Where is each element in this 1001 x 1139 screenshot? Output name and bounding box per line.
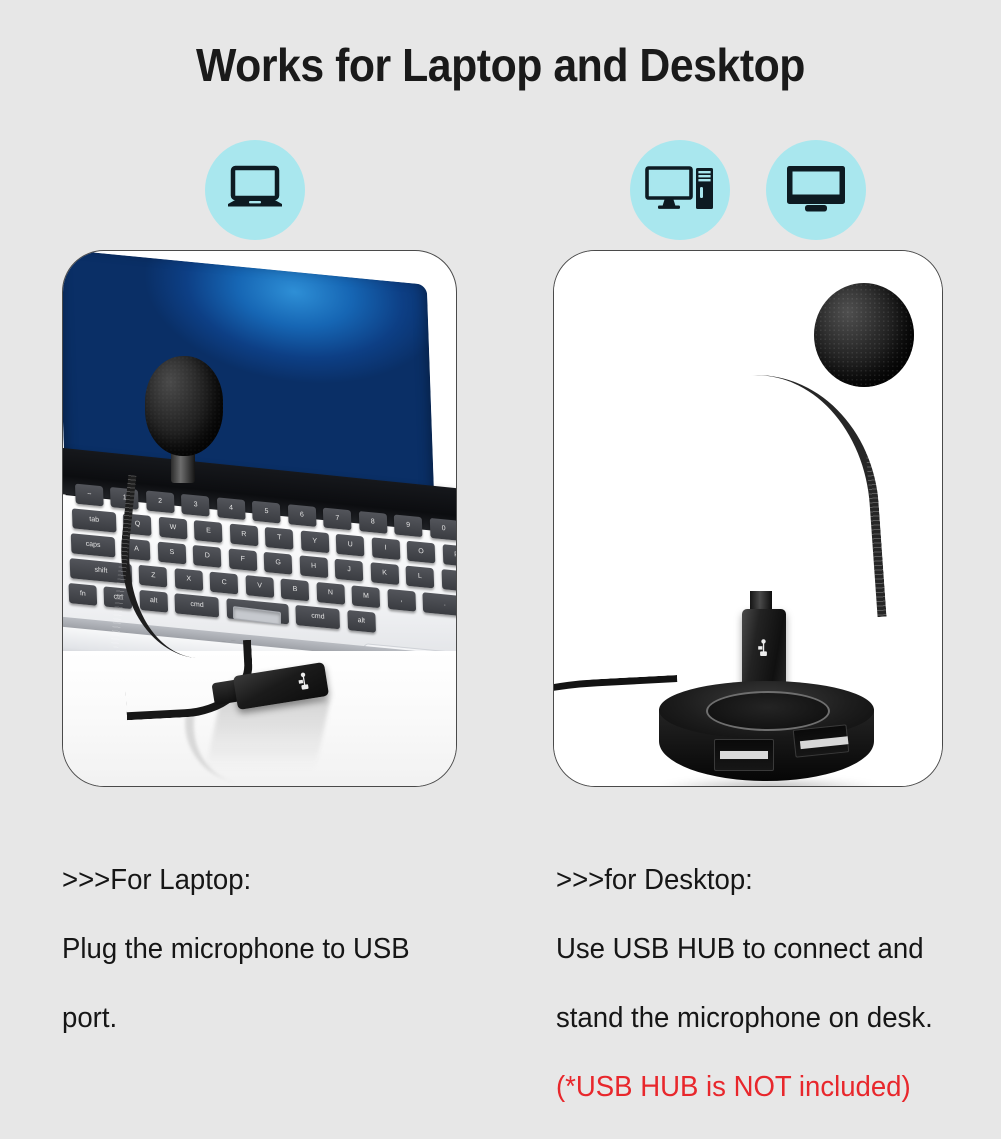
key: caps	[71, 533, 116, 557]
key: R	[230, 524, 259, 547]
key: V	[245, 575, 274, 598]
laptop-badge	[205, 140, 305, 240]
laptop-icon	[224, 164, 286, 217]
laptop-caption: >>>For Laptop: Plug the microphone to US…	[62, 828, 471, 1070]
desktop-tower-icon	[644, 163, 716, 218]
key: alt	[347, 610, 376, 633]
key: 5	[252, 501, 281, 524]
desktop-caption-line2: stand the microphone on desk.	[556, 1001, 974, 1036]
usb-hub-not-included-note: (*USB HUB is NOT included)	[556, 1070, 974, 1105]
laptop-caption-heading: >>>For Laptop:	[62, 863, 471, 898]
page-title: Works for Laptop and Desktop	[35, 38, 966, 92]
key: 7	[323, 508, 352, 531]
laptop-caption-line1: Plug the microphone to USB	[62, 932, 471, 967]
key: .	[422, 592, 457, 616]
microphone-foam-head	[145, 356, 223, 456]
monitor-badge	[766, 140, 866, 240]
key: F	[228, 548, 257, 571]
key: ;	[441, 569, 457, 593]
desktop-caption: >>>for Desktop: Use USB HUB to connect a…	[556, 828, 974, 1139]
key: 9	[394, 514, 423, 537]
usb-hub-port	[714, 739, 774, 771]
key: O	[407, 541, 436, 564]
key: 0	[429, 518, 457, 541]
key: fn	[68, 583, 97, 606]
key: ,	[387, 589, 416, 612]
key: J	[335, 559, 364, 582]
key: L	[406, 566, 435, 589]
usb-hub-socket	[706, 691, 830, 731]
key: T	[265, 527, 294, 550]
badge-group-laptop	[205, 140, 315, 240]
key: ~	[75, 484, 104, 507]
key: 6	[288, 504, 317, 527]
key: G	[264, 552, 293, 575]
desktop-caption-heading: >>>for Desktop:	[556, 863, 974, 898]
key: 8	[358, 511, 387, 534]
laptop-photo-panel: ~ 1 2 3 4 5 6 7 8 9 0 del tab Q W E R T …	[62, 250, 457, 787]
laptop-caption-line2: port.	[62, 1001, 471, 1036]
key: Y	[300, 530, 329, 553]
key: I	[371, 537, 400, 560]
desktop-tower-badge	[630, 140, 730, 240]
usb-logo-icon	[296, 671, 312, 691]
key: N	[316, 582, 345, 605]
key: B	[281, 579, 310, 602]
microphone-foam-head	[814, 283, 914, 387]
usb-hub-port	[793, 724, 850, 757]
desktop-caption-line1: Use USB HUB to connect and	[556, 932, 974, 967]
key: U	[336, 534, 365, 557]
key: H	[299, 555, 328, 578]
microphone-gooseneck	[750, 367, 886, 625]
key: K	[370, 562, 399, 585]
monitor-icon	[783, 162, 849, 219]
key: C	[210, 572, 239, 595]
usb-logo-icon	[757, 639, 770, 657]
badge-group-desktop	[630, 140, 880, 240]
key: tab	[72, 508, 117, 532]
key: cmd	[296, 605, 341, 629]
key: 4	[217, 497, 246, 520]
key: M	[352, 585, 381, 608]
usb-hub	[659, 681, 874, 787]
key: P	[442, 544, 457, 567]
desktop-photo-panel	[553, 250, 943, 787]
